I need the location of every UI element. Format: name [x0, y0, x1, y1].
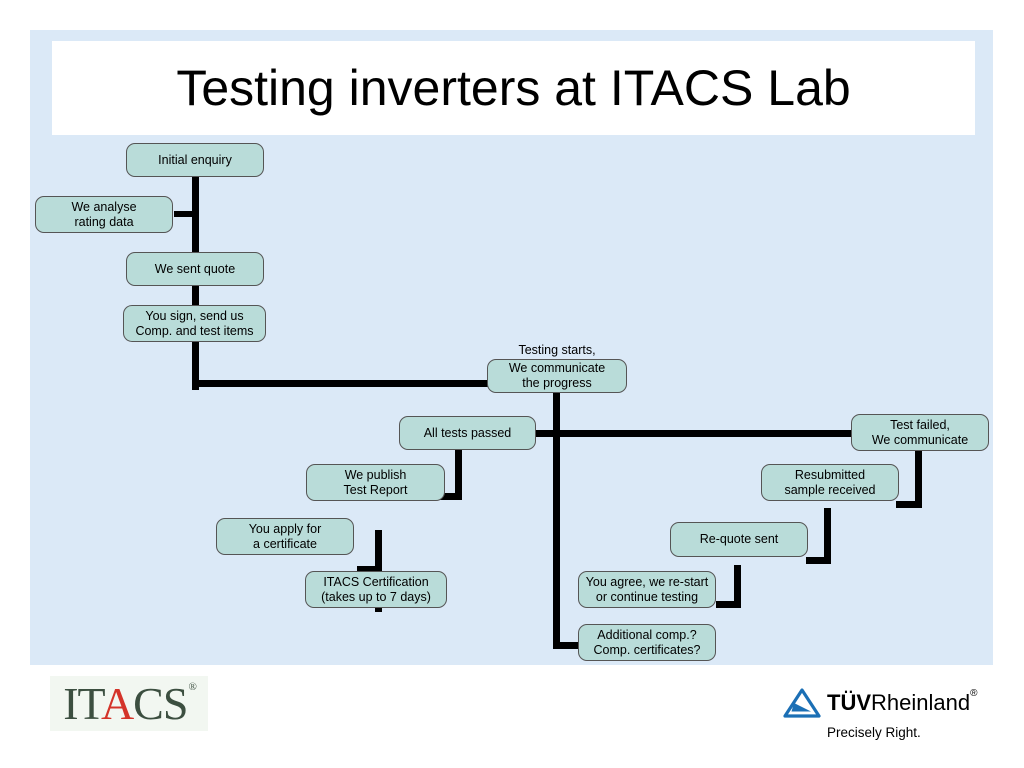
registered-mark-icon: ®	[970, 688, 977, 699]
tuv-rheinland-logo: TÜVRheinland® Precisely Right.	[781, 687, 1001, 743]
itacs-logo: ITACS®	[50, 676, 208, 731]
node-label: Additional comp.? Comp. certificates?	[594, 628, 701, 658]
registered-mark-icon: ®	[188, 681, 195, 693]
connector-to-test-failed	[557, 430, 852, 437]
node-label: All tests passed	[424, 426, 512, 441]
connector-testfailed-elbow	[896, 501, 922, 508]
node-label: We communicate the progress	[509, 361, 605, 391]
slide-canvas: Testing inverters at ITACS Lab	[30, 30, 993, 665]
node-you-agree-restart[interactable]: You agree, we re-start or continue testi…	[578, 571, 716, 608]
node-label: We publish Test Report	[344, 468, 408, 498]
node-label: Initial enquiry	[158, 153, 232, 168]
tuv-tagline: Precisely Right.	[827, 725, 1001, 740]
connector-to-all-tests-passed	[534, 430, 556, 437]
connector-resubmitted-elbow	[806, 557, 831, 564]
connector-requote-elbow	[716, 601, 741, 608]
connector-analyse-stub	[174, 211, 196, 217]
node-additional-comp[interactable]: Additional comp.? Comp. certificates?	[578, 624, 716, 661]
node-label: You agree, we re-start or continue testi…	[586, 575, 709, 605]
node-testing-starts[interactable]: Testing starts, We communicate the progr…	[487, 359, 627, 393]
tuv-brand-bold: TÜV	[827, 690, 871, 715]
node-itacs-certification[interactable]: ITACS Certification (takes up to 7 days)	[305, 571, 447, 608]
node-all-tests-passed[interactable]: All tests passed	[399, 416, 536, 450]
connector-resubmitted-down	[824, 508, 831, 564]
node-label: Resubmitted sample received	[784, 468, 875, 498]
node-you-sign-send-us[interactable]: You sign, send us Comp. and test items	[123, 305, 266, 342]
connector-to-additional-comp	[553, 642, 579, 649]
node-re-quote-sent[interactable]: Re-quote sent	[670, 522, 808, 557]
node-we-publish-test-report[interactable]: We publish Test Report	[306, 464, 445, 501]
flowchart: Initial enquiry We analyse rating data W…	[30, 30, 993, 665]
node-resubmitted-sample[interactable]: Resubmitted sample received	[761, 464, 899, 501]
itacs-text-after: CS	[133, 678, 187, 729]
tuv-logo-row: TÜVRheinland®	[781, 687, 1001, 719]
connector-testfailed-down	[915, 448, 922, 508]
node-initial-enquiry[interactable]: Initial enquiry	[126, 143, 264, 177]
node-test-failed[interactable]: Test failed, We communicate	[851, 414, 989, 451]
node-we-sent-quote[interactable]: We sent quote	[126, 252, 264, 286]
node-label: We analyse rating data	[71, 200, 136, 230]
node-we-analyse-rating-data[interactable]: We analyse rating data	[35, 196, 173, 233]
node-you-apply-certificate[interactable]: You apply for a certificate	[216, 518, 354, 555]
connector-to-testing-starts	[192, 380, 519, 387]
tuv-triangle-icon	[781, 687, 823, 719]
itacs-text-before: IT	[63, 678, 101, 729]
node-label-overflow: Testing starts,	[518, 343, 595, 358]
node-label: You sign, send us Comp. and test items	[135, 309, 253, 339]
node-label: You apply for a certificate	[249, 522, 322, 552]
node-label: Test failed, We communicate	[872, 418, 968, 448]
node-label: Re-quote sent	[700, 532, 779, 547]
node-label: ITACS Certification (takes up to 7 days)	[321, 575, 431, 605]
tuv-wordmark: TÜVRheinland®	[827, 692, 977, 714]
node-label: We sent quote	[155, 262, 235, 277]
tuv-brand-regular: Rheinland	[871, 690, 970, 715]
itacs-wordmark: ITACS®	[63, 681, 195, 727]
itacs-text-accent: A	[101, 678, 133, 729]
